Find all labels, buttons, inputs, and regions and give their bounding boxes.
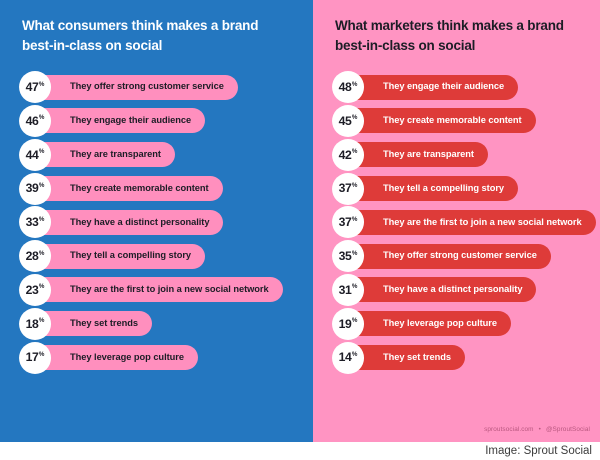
percent-sign: % [39, 217, 45, 223]
percent-sign: % [39, 82, 45, 88]
percent-badge-inner: 18% [26, 318, 45, 330]
percent-sign: % [352, 149, 358, 155]
bar-row: 17%They leverage pop culture [0, 343, 313, 373]
percent-value: 14 [339, 351, 352, 363]
percent-badge-inner: 47% [26, 81, 45, 93]
bar-pill: 33%They have a distinct personality [28, 210, 223, 235]
percent-badge-inner: 37% [339, 182, 358, 194]
percent-badge: 46% [19, 105, 51, 137]
bar-pill: 48%They engage their audience [341, 75, 518, 100]
percent-badge-inner: 46% [26, 115, 45, 127]
bar-pill: 44%They are transparent [28, 142, 175, 167]
image-credit-caption: Image: Sprout Social [485, 445, 592, 457]
percent-badge-inner: 17% [26, 351, 45, 363]
percent-value: 28 [26, 250, 39, 262]
percent-badge: 48% [332, 71, 364, 103]
bar-label: They have a distinct personality [383, 285, 522, 294]
bar-label: They leverage pop culture [383, 319, 497, 328]
bar-row: 42%They are transparent [313, 140, 600, 170]
bar-row: 31%They have a distinct personality [313, 275, 600, 305]
percent-sign: % [352, 183, 358, 189]
bar-pill: 28%They tell a compelling story [28, 244, 205, 269]
bar-label: They tell a compelling story [70, 251, 191, 260]
consumers-panel: What consumers think makes a brand best-… [0, 0, 313, 442]
bar-pill: 47%They offer strong customer service [28, 75, 238, 100]
bar-row: 33%They have a distinct personality [0, 207, 313, 237]
footer-website: sproutsocial.com [484, 426, 534, 433]
marketers-bar-list: 48%They engage their audience45%They cre… [313, 72, 600, 372]
bar-label: They set trends [383, 353, 451, 362]
bar-pill: 46%They engage their audience [28, 108, 205, 133]
percent-sign: % [39, 149, 45, 155]
bar-pill: 19%They leverage pop culture [341, 311, 511, 336]
percent-sign: % [352, 318, 358, 324]
bar-label: They offer strong customer service [70, 82, 224, 91]
percent-value: 37 [339, 182, 352, 194]
percent-value: 35 [339, 250, 352, 262]
percent-value: 46 [26, 115, 39, 127]
percent-badge-inner: 45% [339, 115, 358, 127]
percent-badge-inner: 44% [26, 149, 45, 161]
bar-label: They leverage pop culture [70, 353, 184, 362]
bar-row: 48%They engage their audience [313, 72, 600, 102]
footer-credit: sproutsocial.com • @SproutSocial [484, 426, 590, 433]
percent-sign: % [352, 82, 358, 88]
percent-sign: % [39, 284, 45, 290]
percent-badge: 31% [332, 274, 364, 306]
percent-badge-inner: 33% [26, 216, 45, 228]
bar-pill: 45%They create memorable content [341, 108, 536, 133]
consumers-panel-title: What consumers think makes a brand best-… [0, 16, 313, 55]
bar-row: 45%They create memorable content [313, 106, 600, 136]
percent-value: 37 [339, 216, 352, 228]
percent-badge: 44% [19, 139, 51, 171]
bar-row: 46%They engage their audience [0, 106, 313, 136]
bar-row: 23%They are the first to join a new soci… [0, 275, 313, 305]
bar-label: They engage their audience [383, 82, 504, 91]
bar-label: They set trends [70, 319, 138, 328]
percent-badge-inner: 48% [339, 81, 358, 93]
percent-badge: 33% [19, 206, 51, 238]
bar-row: 14%They set trends [313, 343, 600, 373]
bar-label: They create memorable content [70, 184, 209, 193]
percent-sign: % [39, 318, 45, 324]
percent-badge: 35% [332, 240, 364, 272]
percent-value: 19 [339, 318, 352, 330]
percent-badge-inner: 28% [26, 250, 45, 262]
percent-value: 23 [26, 284, 39, 296]
percent-badge-inner: 42% [339, 149, 358, 161]
percent-badge-inner: 37% [339, 216, 358, 228]
marketers-panel-title: What marketers think makes a brand best-… [313, 16, 600, 55]
percent-badge-inner: 31% [339, 284, 358, 296]
percent-badge: 42% [332, 139, 364, 171]
bar-pill: 17%They leverage pop culture [28, 345, 198, 370]
bar-row: 18%They set trends [0, 309, 313, 339]
bar-label: They tell a compelling story [383, 184, 504, 193]
percent-value: 44 [26, 149, 39, 161]
percent-badge: 28% [19, 240, 51, 272]
bar-label: They are transparent [383, 150, 474, 159]
bar-pill: 37%They tell a compelling story [341, 176, 518, 201]
percent-badge: 37% [332, 206, 364, 238]
consumers-bar-list: 47%They offer strong customer service46%… [0, 72, 313, 372]
bar-pill: 39%They create memorable content [28, 176, 223, 201]
caption-bar: Image: Sprout Social [0, 442, 600, 460]
percent-value: 33 [26, 216, 39, 228]
percent-badge: 37% [332, 173, 364, 205]
percent-badge: 17% [19, 342, 51, 374]
footer-handle: @SproutSocial [546, 426, 590, 433]
bar-pill: 18%They set trends [28, 311, 152, 336]
bar-row: 44%They are transparent [0, 140, 313, 170]
bar-label: They are transparent [70, 150, 161, 159]
percent-badge: 23% [19, 274, 51, 306]
percent-badge: 47% [19, 71, 51, 103]
bar-label: They are the first to join a new social … [383, 218, 582, 227]
percent-value: 47 [26, 81, 39, 93]
percent-badge-inner: 23% [26, 284, 45, 296]
percent-sign: % [352, 352, 358, 358]
infographic-container: What consumers think makes a brand best-… [0, 0, 600, 442]
percent-sign: % [39, 183, 45, 189]
percent-badge: 39% [19, 173, 51, 205]
percent-sign: % [39, 352, 45, 358]
bar-pill: 42%They are transparent [341, 142, 488, 167]
percent-value: 17 [26, 351, 39, 363]
percent-sign: % [352, 217, 358, 223]
bar-pill: 14%They set trends [341, 345, 465, 370]
bar-row: 47%They offer strong customer service [0, 72, 313, 102]
bar-pill: 31%They have a distinct personality [341, 277, 536, 302]
percent-sign: % [352, 284, 358, 290]
bar-pill: 35%They offer strong customer service [341, 244, 551, 269]
bar-row: 37%They tell a compelling story [313, 174, 600, 204]
percent-badge-inner: 39% [26, 182, 45, 194]
percent-value: 45 [339, 115, 352, 127]
bar-label: They are the first to join a new social … [70, 285, 269, 294]
percent-value: 18 [26, 318, 39, 330]
percent-badge: 14% [332, 342, 364, 374]
percent-badge-inner: 14% [339, 351, 358, 363]
bar-row: 37%They are the first to join a new soci… [313, 207, 600, 237]
footer-separator: • [539, 426, 541, 433]
percent-badge: 19% [332, 308, 364, 340]
percent-sign: % [39, 251, 45, 257]
percent-value: 42 [339, 149, 352, 161]
percent-badge-inner: 19% [339, 318, 358, 330]
bar-label: They offer strong customer service [383, 251, 537, 260]
percent-value: 39 [26, 182, 39, 194]
bar-pill: 37%They are the first to join a new soci… [341, 210, 596, 235]
bar-row: 39%They create memorable content [0, 174, 313, 204]
bar-row: 19%They leverage pop culture [313, 309, 600, 339]
bar-label: They have a distinct personality [70, 218, 209, 227]
percent-badge: 18% [19, 308, 51, 340]
percent-value: 48 [339, 81, 352, 93]
bar-row: 35%They offer strong customer service [313, 241, 600, 271]
percent-sign: % [352, 251, 358, 257]
bar-pill: 23%They are the first to join a new soci… [28, 277, 283, 302]
percent-sign: % [39, 115, 45, 121]
percent-value: 31 [339, 284, 352, 296]
bar-row: 28%They tell a compelling story [0, 241, 313, 271]
bar-label: They create memorable content [383, 116, 522, 125]
percent-sign: % [352, 115, 358, 121]
percent-badge-inner: 35% [339, 250, 358, 262]
bar-label: They engage their audience [70, 116, 191, 125]
marketers-panel: What marketers think makes a brand best-… [313, 0, 600, 442]
percent-badge: 45% [332, 105, 364, 137]
